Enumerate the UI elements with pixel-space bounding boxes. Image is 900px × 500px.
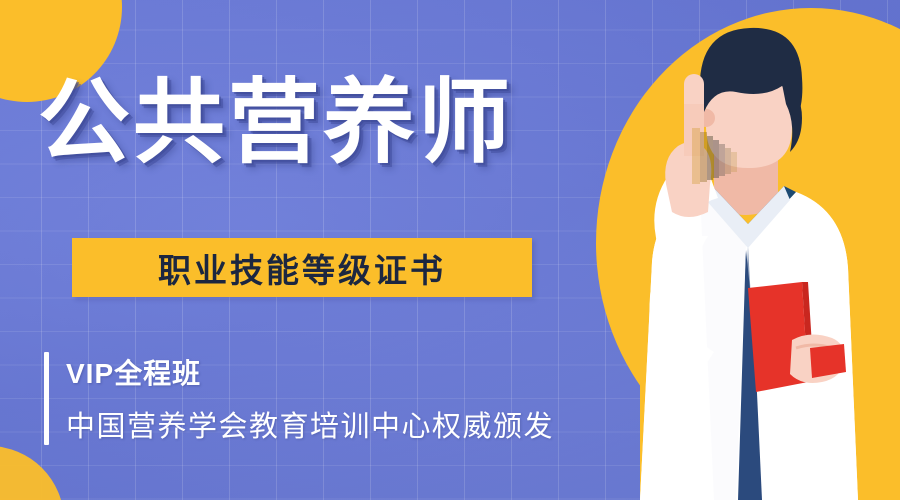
nutritionist-illustration xyxy=(596,0,900,500)
footer-text-group: VIP全程班 中国营养学会教育培训中心权威颁发 xyxy=(66,352,554,445)
page-title: 公共营养师 xyxy=(38,74,513,173)
subtitle-banner-text: 职业技能等级证书 xyxy=(158,244,446,292)
issuing-organization-label: 中国营养学会教育培训中心权威颁发 xyxy=(66,403,554,445)
subtitle-banner: 职业技能等级证书 xyxy=(72,238,532,297)
vip-program-label: VIP全程班 xyxy=(66,352,554,392)
poster-canvas: 公共营养师 职业技能等级证书 VIP全程班 中国营养学会教育培训中心权威颁发 xyxy=(0,0,900,500)
footer-block: VIP全程班 中国营养学会教育培训中心权威颁发 xyxy=(44,352,554,445)
accent-bar xyxy=(44,352,49,445)
